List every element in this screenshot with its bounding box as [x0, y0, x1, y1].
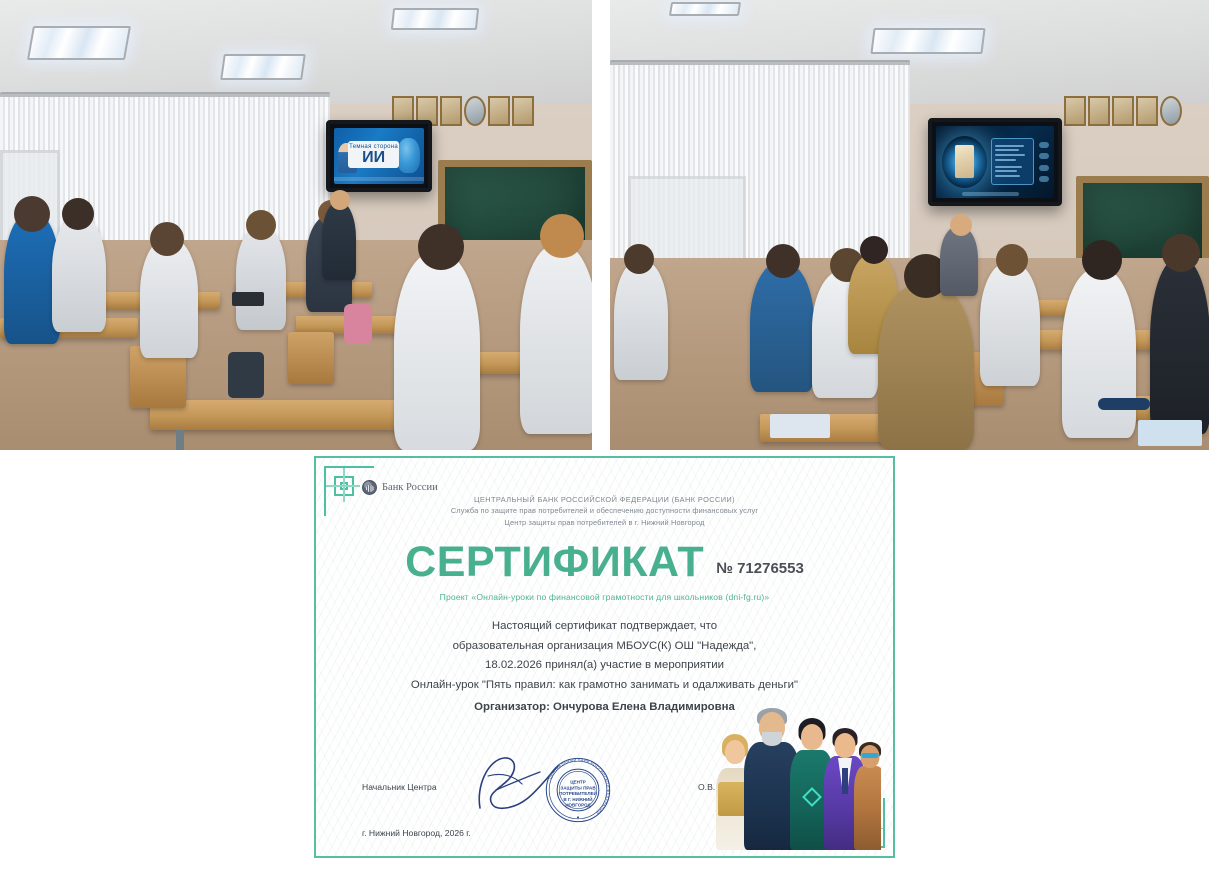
official-round-stamp: ЦЕНТРАЛЬНЫЙ БАНК РОССИЙСКОЙ ФЕДЕРАЦИИ ЦЕ… [542, 754, 614, 826]
org-line-3: Центр защиты прав потребителей в г. Нижн… [346, 517, 863, 528]
character-5 [853, 742, 881, 850]
certificate-city-date: г. Нижний Новгород, 2026 г. [362, 828, 471, 838]
certificate-title: СЕРТИФИКАТ [405, 542, 704, 583]
svg-text:ЦЕНТР: ЦЕНТР [570, 780, 586, 785]
issuing-organization-lines: ЦЕНТРАЛЬНЫЙ БАНК РОССИЙСКОЙ ФЕДЕРАЦИИ (Б… [346, 494, 863, 528]
svg-text:НОВГОРОД: НОВГОРОД [565, 803, 591, 808]
bank-name-label: Банк России [382, 482, 438, 493]
org-line-2: Служба по защите прав потребителей и обе… [346, 505, 863, 516]
body-line-4: Онлайн-урок "Пять правил: как грамотно з… [346, 676, 863, 696]
org-line-1: ЦЕНТРАЛЬНЫЙ БАНК РОССИЙСКОЙ ФЕДЕРАЦИИ (Б… [346, 494, 863, 505]
signatory-position: Начальник Центра [362, 782, 437, 792]
bank-of-russia-logo: Банк России [362, 480, 438, 495]
bank-of-russia-emblem-icon [362, 480, 377, 495]
characters-illustration [713, 700, 881, 850]
certificate: Банк России ЦЕНТРАЛЬНЫЙ БАНК РОССИЙСКОЙ … [314, 456, 895, 858]
svg-text:ЗАЩИТЫ ПРАВ: ЗАЩИТЫ ПРАВ [560, 785, 596, 790]
body-line-3: 18.02.2026 принял(а) участие в мероприят… [346, 656, 863, 676]
classroom-photo-right [610, 0, 1209, 450]
project-line: Проект «Онлайн-уроки по финансовой грамо… [346, 592, 863, 602]
tv-screen-right [928, 118, 1062, 206]
tv-screen-left: Темная сторона ИИ [326, 120, 432, 192]
slide-title-left: ИИ [362, 150, 385, 166]
photo-strip: Темная сторона ИИ [0, 0, 1209, 450]
certificate-number: № 71276553 [716, 560, 804, 583]
body-line-1: Настоящий сертификат подтверждает, что [346, 617, 863, 637]
body-line-2: образовательная организация МБОУС(К) ОШ … [346, 637, 863, 657]
screenshot-root: Темная сторона ИИ [0, 0, 1209, 869]
classroom-photo-left: Темная сторона ИИ [0, 0, 592, 450]
